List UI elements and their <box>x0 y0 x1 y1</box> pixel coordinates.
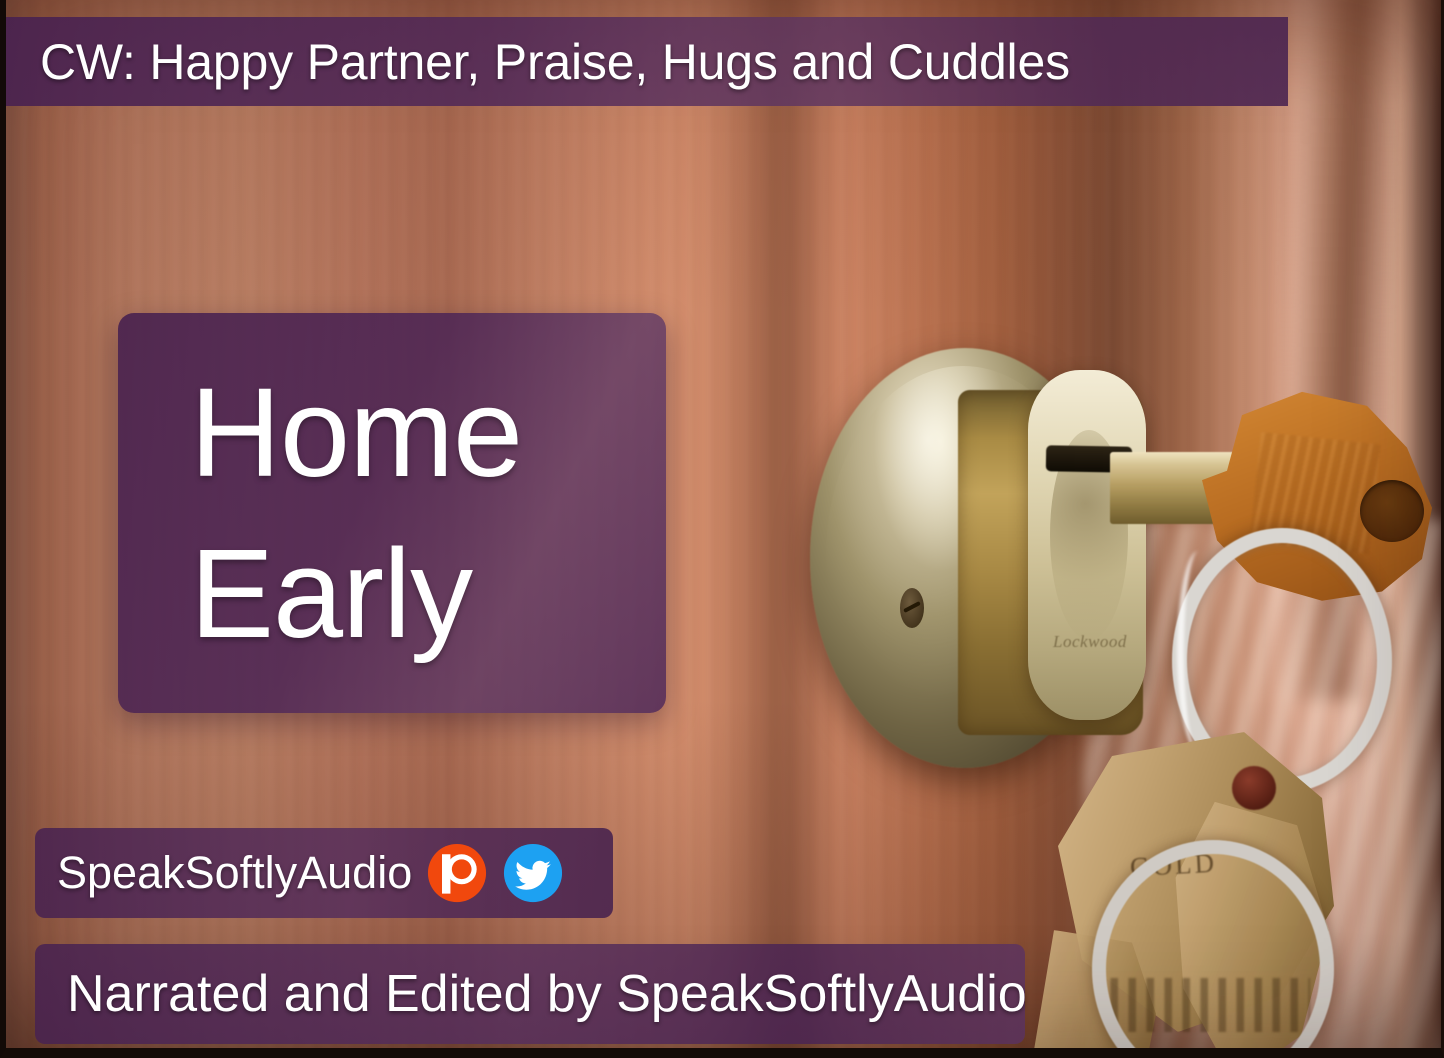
door-lock-assembly: Lockwood GOLD <box>800 330 1440 810</box>
title-card: Home Early <box>118 313 666 713</box>
key-fob-gem <box>1232 766 1276 810</box>
social-bar: SpeakSoftlyAudio <box>35 828 613 918</box>
patreon-icon[interactable] <box>426 842 488 904</box>
lock-brand-text: Lockwood <box>1044 632 1136 652</box>
title-line-2: Early <box>190 513 666 674</box>
credit-banner: Narrated and Edited by SpeakSoftlyAudio <box>35 944 1025 1044</box>
thumbnail-canvas: Lockwood GOLD CW: Happy Partner, Praise,… <box>0 0 1444 1058</box>
title-line-1: Home <box>190 352 666 513</box>
credit-label: Narrated and Edited by SpeakSoftlyAudio <box>67 964 1027 1024</box>
key-head-hole <box>1360 480 1424 542</box>
social-handle: SpeakSoftlyAudio <box>57 847 412 899</box>
twitter-icon[interactable] <box>502 842 564 904</box>
content-warning-label: CW: Happy Partner, Praise, Hugs and Cudd… <box>40 33 1070 91</box>
content-warning-banner: CW: Happy Partner, Praise, Hugs and Cudd… <box>0 17 1288 106</box>
lock-cylinder-face: Lockwood <box>1028 370 1146 720</box>
lock-screw <box>900 588 924 628</box>
